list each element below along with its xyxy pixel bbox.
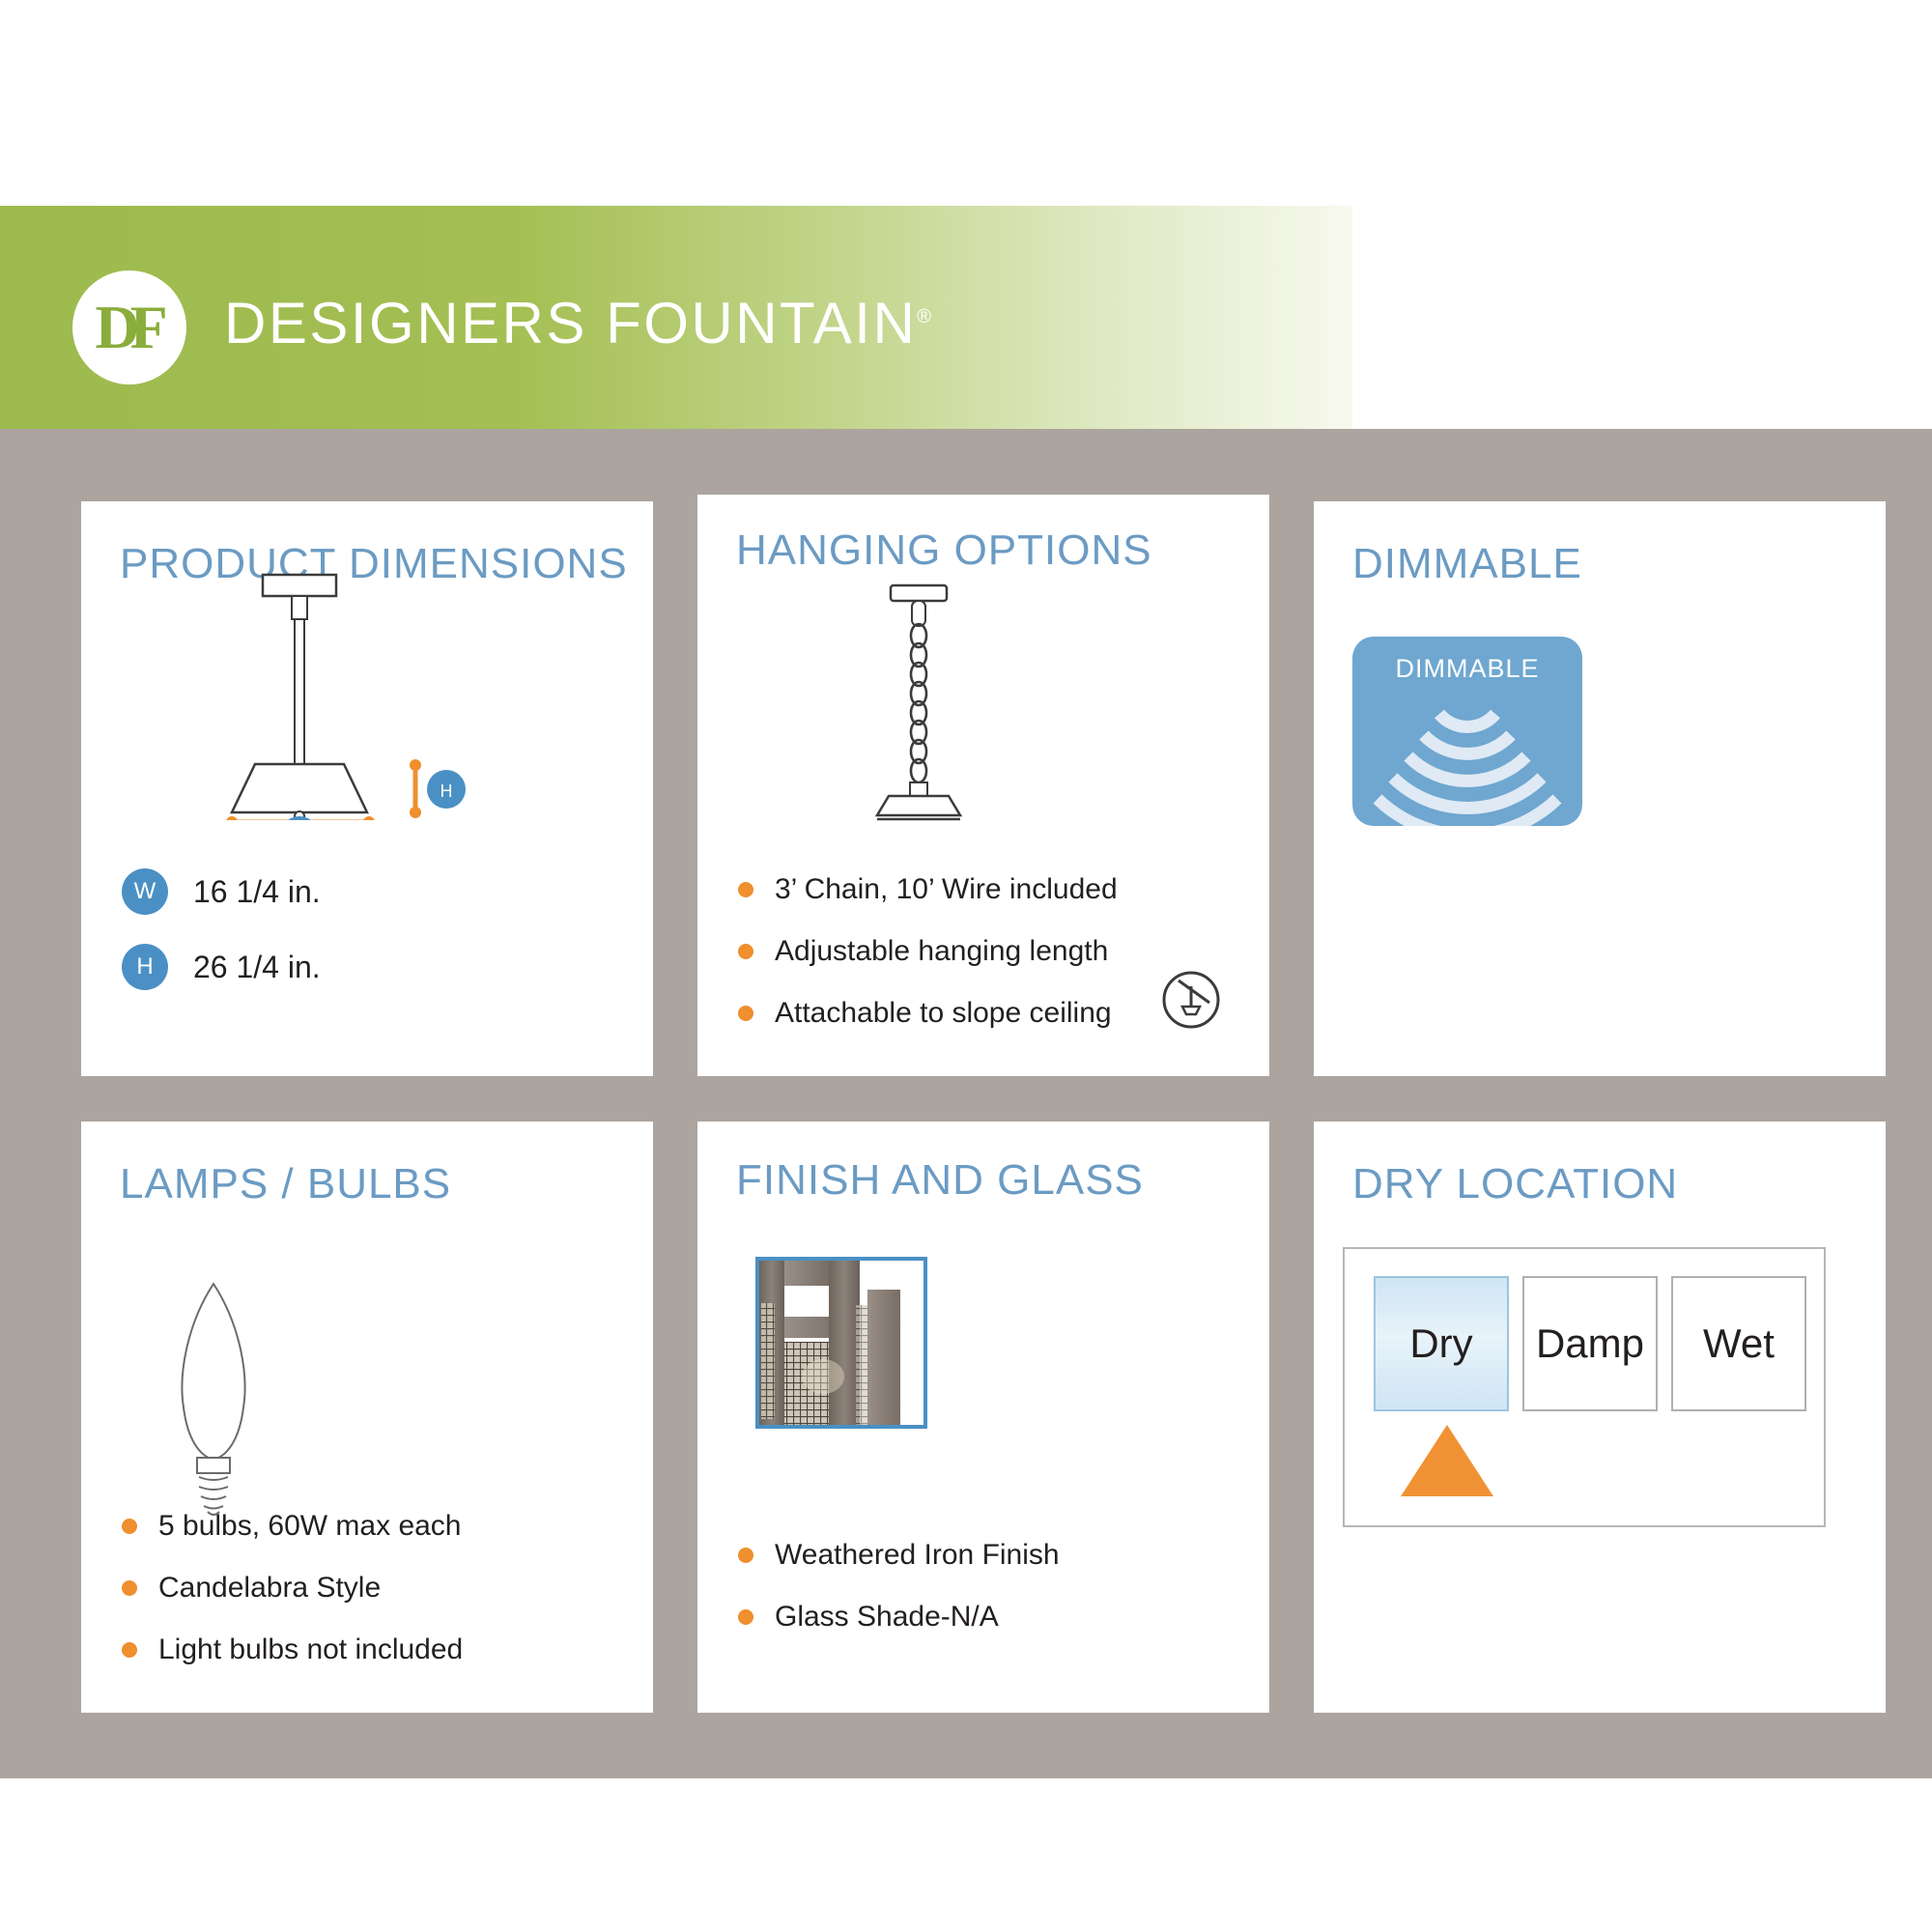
panel-hanging-options: HANGING OPTIONS 3’ Chain, 10’ Wire inc — [697, 495, 1269, 1076]
chain-hanging-drawing — [833, 582, 1007, 833]
list-item: Adjustable hanging length — [738, 935, 1118, 968]
selected-rating-pointer-icon — [1401, 1425, 1493, 1496]
finish-swatch-image — [755, 1257, 927, 1429]
bullet-dot-icon — [122, 1580, 137, 1596]
lamps-bulbs-item-3: Light bulbs not included — [158, 1634, 463, 1666]
panel-title-dry-location: DRY LOCATION — [1352, 1160, 1678, 1208]
dimension-row-width: W 16 1/4 in. — [122, 868, 321, 915]
list-item: Attachable to slope ceiling — [738, 997, 1118, 1030]
bullet-dot-icon — [738, 882, 753, 897]
logo-monogram: DF — [95, 297, 163, 358]
dimmable-badge: DIMMABLE — [1352, 637, 1582, 826]
dimension-badge-h: H — [122, 944, 168, 990]
finish-item-1: Weathered Iron Finish — [775, 1539, 1060, 1572]
panel-title-dimmable: DIMMABLE — [1352, 540, 1582, 588]
brand-name: DESIGNERS FOUNTAIN® — [224, 290, 934, 356]
bullet-dot-icon — [738, 1548, 753, 1563]
location-cell-damp[interactable]: Damp — [1522, 1276, 1658, 1411]
lamps-bulbs-item-1: 5 bulbs, 60W max each — [158, 1510, 462, 1543]
finish-and-glass-bullet-list: Weathered Iron Finish Glass Shade-N/A — [738, 1539, 1060, 1662]
dimmable-badge-label: DIMMABLE — [1352, 654, 1582, 684]
registered-mark-icon: ® — [917, 306, 933, 327]
spec-sheet: DF DESIGNERS FOUNTAIN® PRODUCT DIMENSION… — [0, 0, 1932, 1932]
list-item: Candelabra Style — [122, 1572, 463, 1605]
panel-product-dimensions: PRODUCT DIMENSIONS H W W 16 1/4 in. H — [81, 501, 653, 1076]
finish-item-2: Glass Shade-N/A — [775, 1601, 999, 1634]
hanging-options-bullet-list: 3’ Chain, 10’ Wire included Adjustable h… — [738, 873, 1118, 1059]
panel-title-finish-and-glass: FINISH AND GLASS — [736, 1156, 1144, 1205]
list-item: 5 bulbs, 60W max each — [122, 1510, 463, 1543]
svg-text:H: H — [440, 781, 453, 801]
location-cell-wet[interactable]: Wet — [1671, 1276, 1806, 1411]
dimension-row-height: H 26 1/4 in. — [122, 944, 321, 990]
hanging-option-2: Adjustable hanging length — [775, 935, 1108, 968]
bullet-dot-icon — [738, 1006, 753, 1021]
weathered-iron-texture — [759, 1261, 923, 1425]
bullet-dot-icon — [122, 1519, 137, 1534]
slope-ceiling-icon — [1159, 968, 1223, 1032]
lamps-bulbs-bullet-list: 5 bulbs, 60W max each Candelabra Style L… — [122, 1510, 463, 1695]
lamps-bulbs-item-2: Candelabra Style — [158, 1572, 381, 1605]
candelabra-bulb-icon — [151, 1266, 276, 1518]
list-item: Light bulbs not included — [122, 1634, 463, 1666]
dimmable-waves-icon — [1352, 687, 1582, 826]
dimension-value-height: 26 1/4 in. — [193, 950, 321, 985]
brand-name-text: DESIGNERS FOUNTAIN — [224, 291, 917, 355]
brand-logo: DF — [72, 270, 186, 384]
dimension-value-width: 16 1/4 in. — [193, 874, 321, 910]
panel-dry-location: DRY LOCATION Dry Damp Wet — [1314, 1122, 1886, 1713]
hanging-option-1: 3’ Chain, 10’ Wire included — [775, 873, 1118, 906]
panel-title-hanging-options: HANGING OPTIONS — [736, 526, 1152, 575]
panel-lamps-bulbs: LAMPS / BULBS 5 bulbs, 60W max each Cand… — [81, 1122, 653, 1713]
list-item: Glass Shade-N/A — [738, 1601, 1060, 1634]
bullet-dot-icon — [738, 1609, 753, 1625]
panel-title-lamps-bulbs: LAMPS / BULBS — [120, 1160, 451, 1208]
location-rating-cells: Dry Damp Wet — [1374, 1276, 1820, 1411]
bullet-dot-icon — [738, 944, 753, 959]
list-item: Weathered Iron Finish — [738, 1539, 1060, 1572]
bullet-dot-icon — [122, 1642, 137, 1658]
panel-finish-and-glass: FINISH AND GLASS — [697, 1122, 1269, 1713]
list-item: 3’ Chain, 10’ Wire included — [738, 873, 1118, 906]
fixture-dimension-drawing: H W — [139, 569, 487, 820]
location-cell-dry[interactable]: Dry — [1374, 1276, 1509, 1411]
panel-dimmable: DIMMABLE DIMMABLE — [1314, 501, 1886, 1076]
hanging-option-3: Attachable to slope ceiling — [775, 997, 1112, 1030]
dimension-badge-w: W — [122, 868, 168, 915]
location-rating-frame: Dry Damp Wet — [1343, 1247, 1826, 1527]
